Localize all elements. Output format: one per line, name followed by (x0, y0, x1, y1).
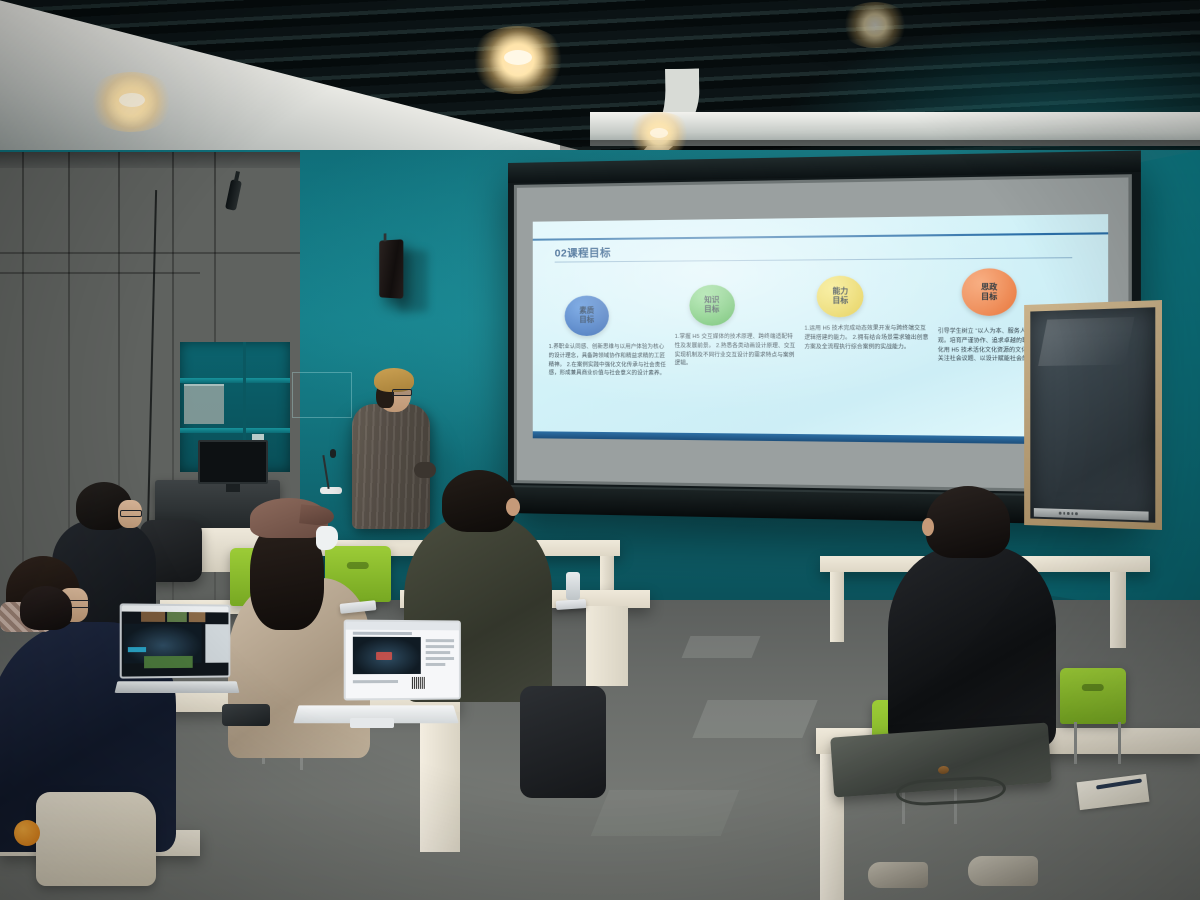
display-button[interactable] (1071, 512, 1073, 515)
wall-speaker (379, 239, 403, 298)
laptop-center-screen[interactable] (344, 620, 461, 701)
laptop-center-sidebar-row (426, 651, 451, 654)
display-button[interactable] (1067, 512, 1069, 514)
laptop-left-timeline-clip (141, 612, 165, 622)
slide-column-1: 素质 目标 1.养职业认同感、创新思维与以用户体验为核心的设计理念，具备跨领域协… (549, 273, 669, 414)
attendee-ear (922, 518, 934, 536)
presenter-glasses (392, 389, 412, 396)
objective-body-ability: 1.运用 H5 技术完成动态效果开发与跨终端交互逻辑搭建的能力。 2.拥有结合场… (804, 324, 931, 352)
laptop-center-sidebar-row (426, 657, 455, 660)
chair-handle-slot (1082, 684, 1104, 691)
laptop-left-green (144, 656, 193, 668)
curtain-seam-2 (0, 272, 200, 274)
presenter-hands (414, 462, 436, 478)
curtain-fold-1 (22, 152, 24, 612)
laptop-left-panel (206, 624, 229, 663)
shelf-plank-1 (180, 378, 290, 383)
podium-monitor[interactable] (198, 440, 268, 484)
display-glare (1038, 317, 1134, 366)
slide-column-2: 知识 目标 1.掌握 H5 交互媒体的技术原理、跨终端适配特性及发展前景。 2.… (675, 272, 798, 415)
bubble-line-2: 目标 (832, 296, 848, 305)
slide-column-3: 能力 目标 1.运用 H5 技术完成动态效果开发与跨终端交互逻辑搭建的能力。 2… (804, 271, 931, 416)
laptop-left-keyboard[interactable] (115, 681, 240, 693)
downlight-glow-4 (840, 2, 910, 48)
shoe (868, 862, 928, 888)
attendee-torso (888, 546, 1056, 746)
desk-leg (420, 712, 460, 852)
laptop-center-video-highlight (376, 652, 392, 660)
downlight-3 (650, 128, 668, 138)
carpet-tile (692, 700, 817, 738)
bubble-line-2: 目标 (981, 292, 997, 301)
microphone-head (330, 449, 336, 458)
objective-bubble-ability: 能力 目标 (817, 276, 864, 318)
attendee-ear (506, 498, 520, 516)
laptop-center-qr (412, 677, 425, 689)
laptop-left-screen[interactable] (120, 603, 231, 678)
charger-on-desk[interactable] (222, 704, 270, 726)
display-button[interactable] (1059, 512, 1061, 514)
presentation-slide[interactable]: 02课程目标 素质 目标 1.养职业认同感、创新思维与以用户体验为核心的设计理念… (533, 214, 1108, 445)
water-bottle[interactable] (566, 572, 580, 600)
laptop-left-accent (128, 647, 145, 653)
chair-leg (1118, 722, 1121, 764)
carpet-tile (591, 790, 740, 836)
downlight-1 (119, 93, 145, 107)
orange-accent (14, 820, 40, 846)
attendee-mask (316, 526, 338, 550)
wall-display-frame (1024, 300, 1162, 530)
objective-bubble-knowledge: 知识 目标 (689, 285, 734, 326)
shelf-items-1 (184, 384, 224, 424)
slide-top-rule (533, 232, 1108, 240)
laptop-center-sidebar-row (426, 663, 446, 666)
cream-bag[interactable] (36, 792, 156, 886)
display-button[interactable] (1063, 512, 1065, 514)
slide-title: 02课程目标 (555, 245, 611, 261)
display-control-bar[interactable] (1034, 508, 1149, 521)
laptop-center-trackpad[interactable] (350, 718, 394, 728)
attendee-hair (20, 586, 72, 630)
laptop-left-timeline-clip (189, 612, 206, 622)
shoe (968, 856, 1038, 886)
curtain-rail (0, 152, 300, 168)
attendee-hair (926, 486, 1010, 558)
slide-columns: 素质 目标 1.养职业认同感、创新思维与以用户体验为核心的设计理念，具备跨领域协… (549, 270, 1093, 417)
laptop-center-browser-bar (346, 622, 459, 630)
laptop-center-ui (346, 622, 459, 699)
curtain-seam-1 (0, 252, 300, 254)
downlight-2 (504, 50, 532, 65)
monitor-stand (226, 484, 240, 492)
objective-body-knowledge: 1.掌握 H5 交互媒体的技术原理、跨终端适配特性及发展前景。 2.熟悉各类动画… (675, 333, 798, 369)
classroom-scene: 02课程目标 素质 目标 1.养职业认同感、创新思维与以用户体验为核心的设计理念… (0, 0, 1200, 900)
desk-leg (830, 572, 844, 642)
objective-bubble-quality: 素质 目标 (565, 296, 609, 336)
laptop-center-title (353, 632, 412, 635)
objective-body-quality: 1.养职业认同感、创新思维与以用户体验为核心的设计理念，具备跨领域协作和精益求精… (549, 343, 669, 379)
chair-leg (1074, 722, 1077, 764)
carpet-tile (682, 636, 761, 658)
wall-display-screen[interactable] (1030, 307, 1155, 523)
laptop-left-ui (122, 605, 229, 676)
chair[interactable] (1060, 668, 1126, 724)
bag-under-desk (520, 686, 606, 798)
objective-bubble-ideology: 思政 目标 (962, 268, 1017, 316)
attendee-glasses (120, 510, 142, 517)
bubble-line-2: 目标 (704, 305, 719, 314)
slide-footer-bar (533, 431, 1108, 445)
laptop-center-sidebar-row (426, 639, 455, 642)
attendee-hair (442, 470, 516, 532)
desk-leg (1110, 572, 1126, 648)
laptop-center-sidebar-row (426, 645, 455, 648)
laptop-center-footer-row (353, 680, 399, 683)
desk-leg (586, 606, 628, 686)
slide-title-rule (555, 257, 1073, 262)
microphone-base (320, 487, 342, 494)
laptop-left-timeline-clip (167, 612, 186, 622)
display-button[interactable] (1075, 512, 1077, 515)
bubble-line-2: 目标 (579, 316, 594, 325)
chair-handle-slot (347, 562, 369, 569)
shelf-plank-2 (180, 428, 290, 433)
